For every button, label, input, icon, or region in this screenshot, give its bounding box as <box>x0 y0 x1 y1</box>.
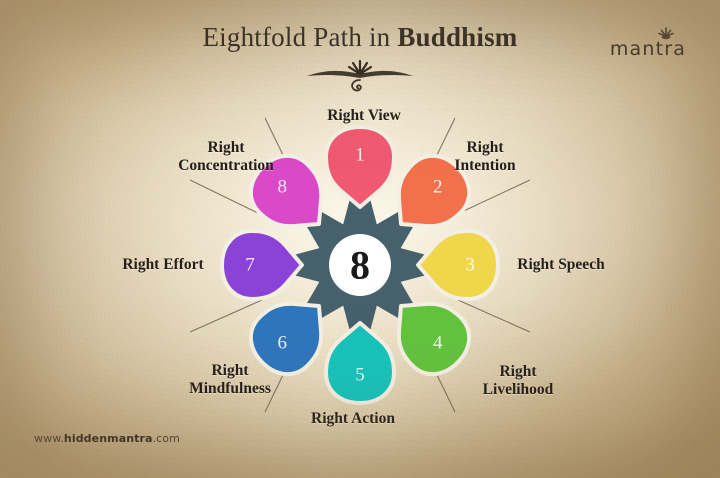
center-number: 8 <box>350 243 370 288</box>
label-right-effort: Right Effort <box>68 256 258 274</box>
page-title-light: Eightfold Path in <box>202 22 397 52</box>
url-prefix: www. <box>34 432 64 445</box>
website-url[interactable]: www.hiddenmantra.com <box>34 432 180 445</box>
url-suffix: .com <box>153 432 180 445</box>
lotus-flourish-ornament-icon <box>305 54 415 98</box>
label-line: Mindfulness <box>130 380 330 398</box>
brand-logo[interactable]: mantra <box>596 26 700 70</box>
petal-number-2: 2 <box>433 177 443 198</box>
petal-number-5: 5 <box>355 365 365 386</box>
petal-number-4: 4 <box>433 332 443 353</box>
petal-5[interactable]: 5 <box>326 323 394 403</box>
url-name: hiddenmantra <box>64 432 153 445</box>
label-right-livelihood: Right Livelihood <box>428 363 608 400</box>
label-line: Livelihood <box>428 381 608 399</box>
label-line: Intention <box>405 157 565 175</box>
label-line: Right Effort <box>68 256 258 274</box>
label-right-action: Right Action <box>253 410 453 428</box>
label-line: Right Action <box>253 410 453 428</box>
petal-number-1: 1 <box>355 145 365 166</box>
label-line: Concentration <box>126 157 326 175</box>
label-line: Right View <box>264 107 464 125</box>
petal-1[interactable]: 1 <box>326 127 394 207</box>
label-line: Right <box>405 139 565 157</box>
label-line: Right <box>130 362 330 380</box>
page-title-bold: Buddhism <box>397 22 517 52</box>
infographic-canvas: Eightfold Path in Buddhism mantra <box>0 0 720 478</box>
label-line: Right Speech <box>466 256 656 274</box>
brand-name: mantra <box>596 38 700 60</box>
petal-shape-1 <box>326 127 394 207</box>
label-right-view: Right View <box>264 107 464 125</box>
center-medallion: 8 <box>329 234 391 296</box>
label-line: Right <box>428 363 608 381</box>
label-line: Right <box>126 139 326 157</box>
label-right-speech: Right Speech <box>466 256 656 274</box>
petal-number-8: 8 <box>277 177 287 198</box>
label-right-mindfulness: Right Mindfulness <box>130 362 330 399</box>
petal-shape-5 <box>326 323 394 403</box>
label-right-intention: Right Intention <box>405 139 565 176</box>
label-right-concentration: Right Concentration <box>126 139 326 176</box>
petal-number-6: 6 <box>277 332 287 353</box>
